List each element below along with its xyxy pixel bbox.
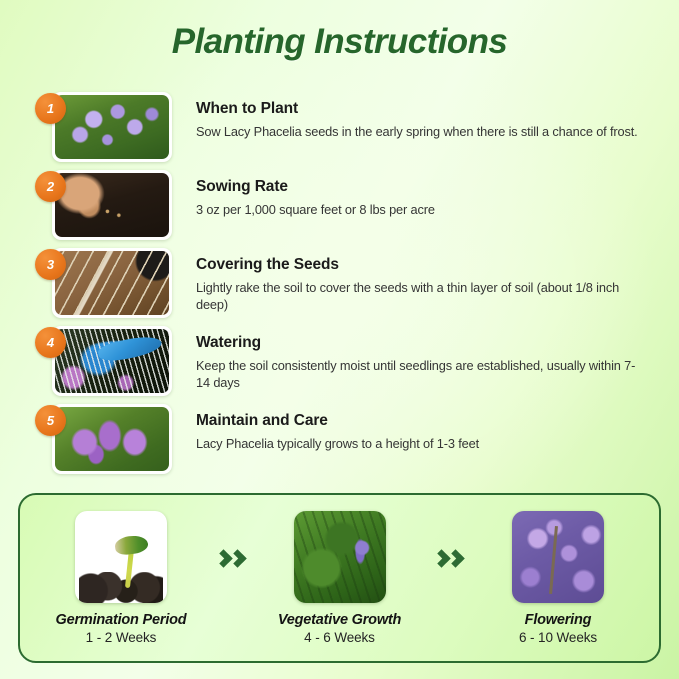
timeline-stage-flowering: Flowering 6 - 10 Weeks xyxy=(483,511,633,645)
rake-on-soil-image xyxy=(55,251,169,315)
step-title-4: Watering xyxy=(196,334,646,352)
planting-instructions-infographic: Planting Instructions 1 When to Plant So… xyxy=(0,0,679,679)
phacelia-bloom-closeup-image xyxy=(55,407,169,471)
step-item-2: 2 Sowing Rate 3 oz per 1,000 square feet… xyxy=(34,170,652,248)
stage-label-flowering: Flowering xyxy=(483,612,633,628)
purple-flower-field-image xyxy=(512,511,604,603)
stage-label-vegetative: Vegetative Growth xyxy=(265,612,415,628)
step-title-5: Maintain and Care xyxy=(196,412,479,430)
step-description-5: Lacy Phacelia typically grows to a heigh… xyxy=(196,435,479,452)
green-foliage-image xyxy=(294,511,386,603)
step-text-3: Covering the Seeds Lightly rake the soil… xyxy=(172,248,646,313)
step-description-2: 3 oz per 1,000 square feet or 8 lbs per … xyxy=(196,201,435,218)
step-thumbnail-1: 1 xyxy=(52,92,172,162)
step-text-2: Sowing Rate 3 oz per 1,000 square feet o… xyxy=(172,170,435,218)
step-thumbnail-2: 2 xyxy=(52,170,172,240)
page-title: Planting Instructions xyxy=(0,22,679,62)
step-item-1: 1 When to Plant Sow Lacy Phacelia seeds … xyxy=(34,92,652,170)
step-number-badge-5: 5 xyxy=(35,405,66,436)
watering-can-image xyxy=(55,329,169,393)
step-item-3: 3 Covering the Seeds Lightly rake the so… xyxy=(34,248,652,326)
growth-timeline-panel: Germination Period 1 - 2 Weeks Vegetativ… xyxy=(18,493,661,663)
step-thumbnail-5: 5 xyxy=(52,404,172,474)
step-number-badge-3: 3 xyxy=(35,249,66,280)
step-description-1: Sow Lacy Phacelia seeds in the early spr… xyxy=(196,123,638,140)
stage-label-germination: Germination Period xyxy=(46,612,196,628)
step-text-4: Watering Keep the soil consistently mois… xyxy=(172,326,646,391)
step-title-2: Sowing Rate xyxy=(196,178,435,196)
timeline-stage-germination: Germination Period 1 - 2 Weeks xyxy=(46,511,196,645)
timeline-stage-vegetative: Vegetative Growth 4 - 6 Weeks xyxy=(265,511,415,645)
step-thumbnail-3: 3 xyxy=(52,248,172,318)
step-item-4: 4 Watering Keep the soil consistently mo… xyxy=(34,326,652,404)
sprouting-seedling-image xyxy=(75,511,167,603)
step-number-badge-4: 4 xyxy=(35,327,66,358)
step-number-badge-2: 2 xyxy=(35,171,66,202)
stage-duration-germination: 1 - 2 Weeks xyxy=(46,630,196,645)
phacelia-flowers-image xyxy=(55,95,169,159)
step-title-3: Covering the Seeds xyxy=(196,256,646,274)
double-chevron-right-icon-1 xyxy=(217,552,244,565)
steps-list: 1 When to Plant Sow Lacy Phacelia seeds … xyxy=(34,92,652,482)
step-text-5: Maintain and Care Lacy Phacelia typicall… xyxy=(172,404,479,452)
step-title-1: When to Plant xyxy=(196,100,638,118)
double-chevron-right-icon-2 xyxy=(435,552,462,565)
step-description-4: Keep the soil consistently moist until s… xyxy=(196,357,646,391)
hand-sowing-seeds-image xyxy=(55,173,169,237)
stage-duration-vegetative: 4 - 6 Weeks xyxy=(265,630,415,645)
step-thumbnail-4: 4 xyxy=(52,326,172,396)
step-text-1: When to Plant Sow Lacy Phacelia seeds in… xyxy=(172,92,638,140)
step-item-5: 5 Maintain and Care Lacy Phacelia typica… xyxy=(34,404,652,482)
step-number-badge-1: 1 xyxy=(35,93,66,124)
step-description-3: Lightly rake the soil to cover the seeds… xyxy=(196,279,646,313)
stage-duration-flowering: 6 - 10 Weeks xyxy=(483,630,633,645)
